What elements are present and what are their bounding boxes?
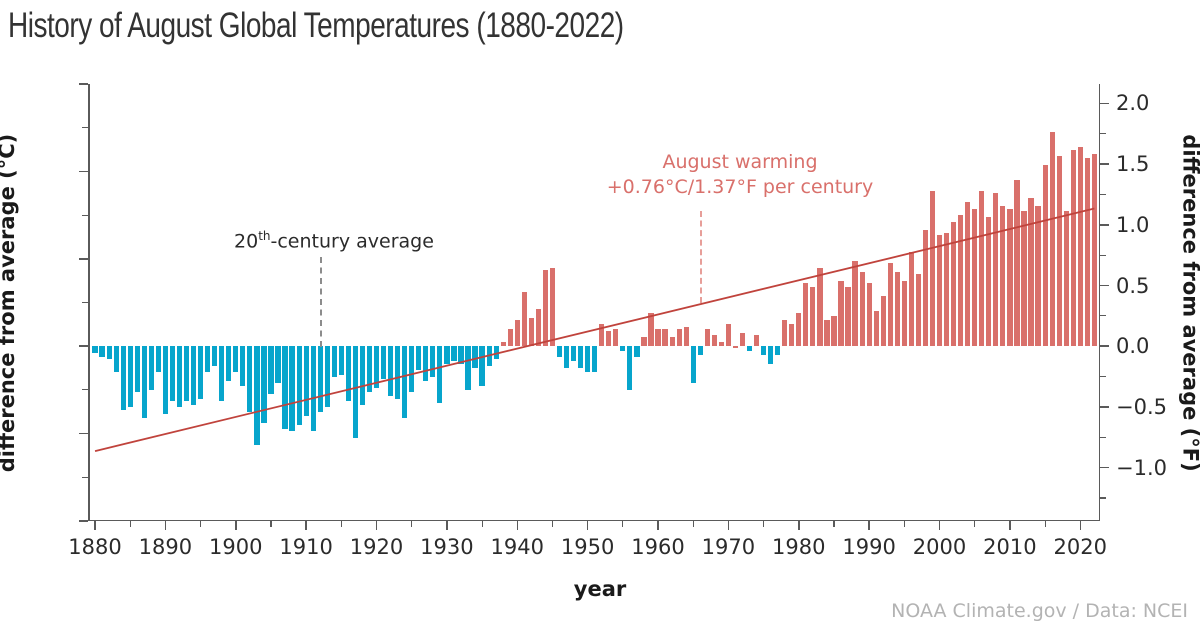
x-axis-tick: [798, 521, 800, 530]
x-axis-tick-label: 1910: [279, 535, 332, 559]
x-axis-tick: [657, 521, 659, 530]
y-axis-right-minor-tick: [1100, 133, 1106, 134]
x-axis-tick-label: 1890: [139, 535, 192, 559]
x-axis-tick: [446, 521, 448, 530]
x-axis-tick-label: 2000: [913, 535, 966, 559]
y-axis-left-tick: [79, 171, 88, 173]
y-axis-right-minor-tick: [1100, 194, 1106, 195]
x-axis-tick-label: 1980: [772, 535, 825, 559]
annotation-august-warming: August warming +0.76°C/1.37°F per centur…: [560, 150, 920, 200]
x-axis-tick: [94, 521, 96, 530]
x-axis-minor-tick: [693, 521, 694, 527]
x-axis-tick: [587, 521, 589, 530]
y-axis-left-tick: [79, 258, 88, 260]
y-axis-right-tick: [1100, 103, 1109, 105]
y-axis-right-minor-tick: [1100, 376, 1106, 377]
x-axis-tick-label: 1900: [209, 535, 262, 559]
y-axis-right-title: difference from average (°F): [1176, 84, 1200, 521]
y-axis-left-tick: [79, 83, 88, 85]
annotation-century-average-rest: -century average: [271, 230, 434, 252]
x-axis-minor-tick: [974, 521, 975, 527]
x-axis-minor-tick: [622, 521, 623, 527]
y-axis-right-minor-tick: [1100, 437, 1106, 438]
x-axis-tick-label: 2020: [1054, 535, 1107, 559]
x-axis-tick-label: 1930: [420, 535, 473, 559]
annotation-august-warming-line2: +0.76°C/1.37°F per century: [560, 175, 920, 200]
x-axis-tick-label: 1940: [491, 535, 544, 559]
y-axis-left-title-text: difference from average (°C): [0, 133, 19, 471]
y-axis-right-tick: [1100, 285, 1109, 287]
x-axis-tick-label: 1920: [350, 535, 403, 559]
x-axis-tick: [1080, 521, 1082, 530]
x-axis-minor-tick: [200, 521, 201, 527]
x-axis-tick: [376, 521, 378, 530]
x-axis-minor-tick: [270, 521, 271, 527]
y-axis-right-tick-label: 2.0: [1116, 91, 1149, 115]
y-axis-right-minor-tick: [1100, 315, 1106, 316]
x-axis-minor-tick: [341, 521, 342, 527]
x-axis-tick: [868, 521, 870, 530]
x-axis-minor-tick: [552, 521, 553, 527]
x-axis-tick-label: 2010: [983, 535, 1036, 559]
y-axis-right-tick-label: −1.0: [1116, 456, 1167, 480]
x-axis-minor-tick: [1045, 521, 1046, 527]
y-axis-right-tick-label: 1.0: [1116, 213, 1149, 237]
annotation-august-warming-leader: [700, 211, 702, 303]
annotation-century-average-num: 20: [234, 230, 258, 252]
x-axis-tick: [728, 521, 730, 530]
y-axis-right-tick-label: −0.5: [1116, 395, 1167, 419]
x-axis-minor-tick: [763, 521, 764, 527]
x-axis-tick: [235, 521, 237, 530]
source-credit: NOAA Climate.gov / Data: NCEI: [891, 600, 1188, 622]
y-axis-right-tick: [1100, 345, 1109, 347]
annotation-century-average-leader: [320, 257, 322, 347]
x-axis-tick-label: 1950: [561, 535, 614, 559]
y-axis-left-title: difference from average (°C): [0, 84, 22, 521]
annotation-august-warming-line1: August warming: [560, 150, 920, 175]
x-axis-minor-tick: [833, 521, 834, 527]
y-axis-right-tick-label: 0.5: [1116, 274, 1149, 298]
x-axis-tick: [305, 521, 307, 530]
y-axis-right-tick: [1100, 224, 1109, 226]
y-axis-left-tick: [79, 433, 88, 435]
x-axis-tick: [1009, 521, 1011, 530]
x-axis-tick-label: 1960: [631, 535, 684, 559]
x-axis-minor-tick: [130, 521, 131, 527]
x-axis-minor-tick: [482, 521, 483, 527]
x-axis-tick: [165, 521, 167, 530]
y-axis-right-minor-tick: [1100, 255, 1106, 256]
y-axis-right-tick: [1100, 467, 1109, 469]
page-title: History of August Global Temperatures (1…: [8, 6, 624, 46]
x-axis-tick-label: 1880: [68, 535, 121, 559]
x-axis-tick-label: 1970: [702, 535, 755, 559]
x-axis-tick-label: 1990: [842, 535, 895, 559]
y-axis-right-title-text: difference from average (°F): [1179, 134, 1200, 471]
x-axis-tick: [939, 521, 941, 530]
y-axis-right-tick-label: 1.5: [1116, 152, 1149, 176]
annotation-century-average: 20th-century average: [234, 229, 434, 252]
y-axis-right-tick-label: 0.0: [1116, 334, 1149, 358]
y-axis-right-minor-tick: [1100, 497, 1106, 498]
x-axis-title: year: [0, 577, 1200, 601]
annotation-century-average-sup: th: [258, 229, 270, 243]
y-axis-right-tick: [1100, 163, 1109, 165]
y-axis-left-tick: [79, 520, 88, 522]
x-axis-minor-tick: [411, 521, 412, 527]
y-axis-left-tick: [79, 345, 88, 347]
x-axis-tick: [517, 521, 519, 530]
x-axis-minor-tick: [904, 521, 905, 527]
y-axis-right-tick: [1100, 406, 1109, 408]
